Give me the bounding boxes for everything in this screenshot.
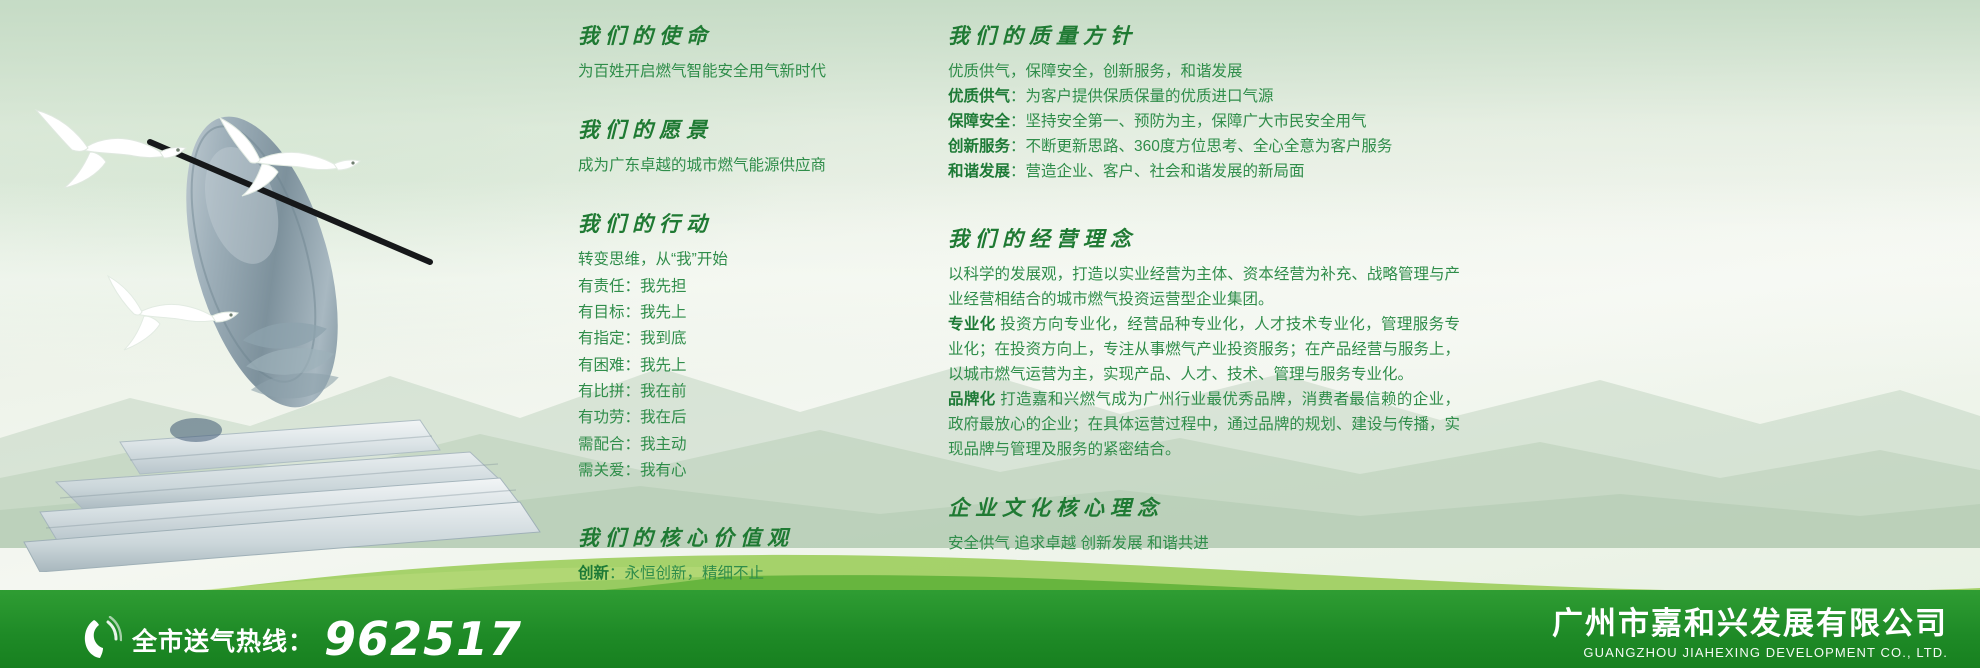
management-philosophy-lead: 品牌化 [948,391,996,408]
vision-line: 成为广东卓越的城市燃气能源供应商 [578,153,908,178]
quality-policy-text: ：坚持安全第一、预防为主，保障广大市民安全用气 [1010,113,1367,130]
management-philosophy-item: 专业化 投资方向专业化，经营品种专业化，人才技术专业化，管理服务专业化；在投资方… [948,312,1460,387]
quality-policy-text: ：为客户提供保质保量的优质进口气源 [1010,88,1274,105]
hotline-group: 全市送气热线： 962517 [82,616,522,664]
spacer [578,84,908,114]
management-philosophy-intro: 以科学的发展观，打造以实业经营为主体、资本经营为补充、战略管理与产业经营相结合的… [948,262,1460,312]
quality-policy-lead: 和谐发展 [948,163,1010,180]
management-philosophy-lead: 专业化 [948,316,996,333]
quality-policy-block: 我们的质量方针 优质供气，保障安全，创新服务，和谐发展 优质供气：为客户提供保质… [948,20,1460,185]
action-line: 有目标：我先上 [578,300,908,326]
hotline-label: 全市送气热线： [132,622,314,658]
dove-icon-2 [214,112,370,200]
quality-policy-text: ：营造企业、客户、社会和谐发展的新局面 [1010,163,1305,180]
mission-block: 我们的使命 为百姓开启燃气智能安全用气新时代 [578,20,908,84]
quality-policy-item: 和谐发展：营造企业、客户、社会和谐发展的新局面 [948,159,1460,184]
phone-icon [82,616,122,660]
hotline-number: 962517 [324,616,522,662]
company-identity: 广州市嘉和兴发展有限公司 GUANGZHOU JIAHEXING DEVELOP… [1552,606,1948,660]
right-text-column: 我们的质量方针 优质供气，保障安全，创新服务，和谐发展 优质供气：为客户提供保质… [948,20,1460,557]
quality-policy-text: ：不断更新思路、360度方位思考、全心全意为客户服务 [1010,138,1392,155]
company-name-en: GUANGZHOU JIAHEXING DEVELOPMENT CO., LTD… [1552,645,1948,660]
management-philosophy-text: 投资方向专业化，经营品种专业化，人才技术专业化，管理服务专业化；在投资方向上，专… [948,316,1460,383]
spacer [948,185,1460,223]
quality-policy-heading: 我们的质量方针 [948,20,1460,50]
spacer [948,462,1460,492]
mission-line: 为百姓开启燃气智能安全用气新时代 [578,59,908,84]
management-philosophy-text: 打造嘉和兴燃气成为广州行业最优秀品牌，消费者最信赖的企业，政府最放心的企业；在具… [948,391,1460,458]
action-line: 有责任：我先担 [578,274,908,300]
vision-heading: 我们的愿景 [578,114,908,144]
action-line: 有指定：我到底 [578,326,908,352]
dove-icon-3 [106,270,246,356]
action-line: 需关爱：我有心 [578,458,908,484]
action-line: 需配合：我主动 [578,432,908,458]
quality-policy-lead: 保障安全 [948,113,1010,130]
culture-core-heading: 企业文化核心理念 [948,492,1460,522]
action-heading: 我们的行动 [578,208,908,238]
vision-block: 我们的愿景 成为广东卓越的城市燃气能源供应商 [578,114,908,178]
culture-core-line: 安全供气 追求卓越 创新发展 和谐共进 [948,531,1460,556]
action-line: 有困难：我先上 [578,353,908,379]
quality-policy-summary: 优质供气，保障安全，创新服务，和谐发展 [948,59,1460,84]
poster-canvas: 我们的使命 为百姓开启燃气智能安全用气新时代 我们的愿景 成为广东卓越的城市燃气… [0,0,1980,668]
culture-core-block: 企业文化核心理念 安全供气 追求卓越 创新发展 和谐共进 [948,492,1460,556]
sundial-monument-image [0,12,560,572]
action-line: 有功劳：我在后 [578,405,908,431]
spacer [578,484,908,522]
quality-policy-item: 优质供气：为客户提供保质保量的优质进口气源 [948,84,1460,109]
action-line: 有比拼：我在前 [578,379,908,405]
core-value-text: ：永恒创新，精细不止 [609,565,764,582]
company-name-cn: 广州市嘉和兴发展有限公司 [1552,606,1948,642]
core-value-lead: 创新 [578,565,609,582]
quality-policy-lead: 创新服务 [948,138,1010,155]
quality-policy-item: 创新服务：不断更新思路、360度方位思考、全心全意为客户服务 [948,134,1460,159]
dove-icon-1 [28,96,208,192]
quality-policy-item: 保障安全：坚持安全第一、预防为主，保障广大市民安全用气 [948,109,1460,134]
mission-heading: 我们的使命 [578,20,908,50]
management-philosophy-item: 品牌化 打造嘉和兴燃气成为广州行业最优秀品牌，消费者最信赖的企业，政府最放心的企… [948,387,1460,462]
action-line: 转变思维，从“我”开始 [578,247,908,273]
action-block: 我们的行动 转变思维，从“我”开始 有责任：我先担 有目标：我先上 有指定：我到… [578,208,908,484]
spacer [578,178,908,208]
core-values-heading: 我们的核心价值观 [578,522,908,552]
management-philosophy-block: 我们的经营理念 以科学的发展观，打造以实业经营为主体、资本经营为补充、战略管理与… [948,223,1460,463]
core-value-item: 创新：永恒创新，精细不止 [578,561,908,587]
quality-policy-lead: 优质供气 [948,88,1010,105]
management-philosophy-heading: 我们的经营理念 [948,223,1460,253]
left-text-column: 我们的使命 为百姓开启燃气智能安全用气新时代 我们的愿景 成为广东卓越的城市燃气… [578,20,908,640]
